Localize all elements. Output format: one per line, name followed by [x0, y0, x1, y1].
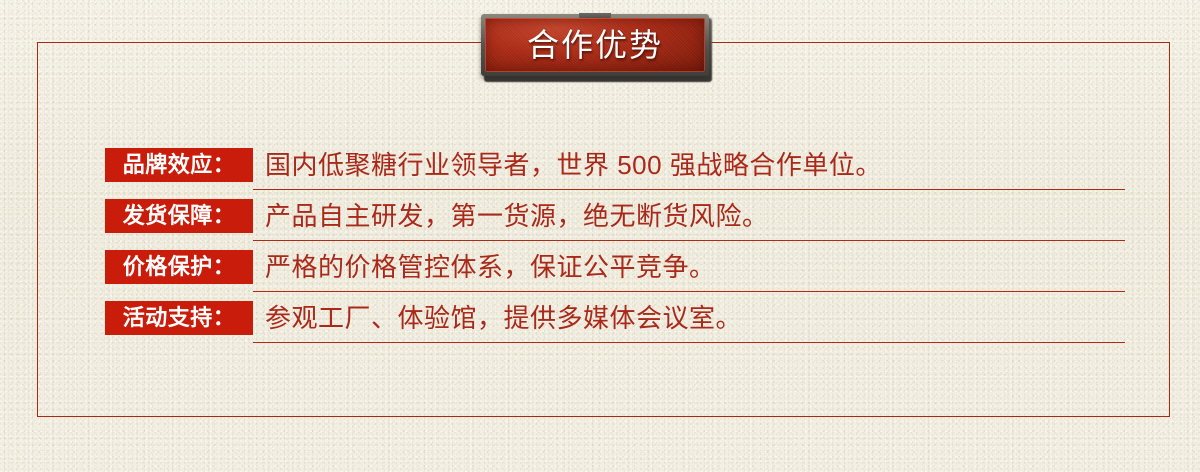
- list-item: 活动支持： 参观工厂、体验馆，提供多媒体会议室。: [105, 301, 1125, 352]
- feature-text-activity-support: 参观工厂、体验馆，提供多媒体会议室。: [265, 301, 742, 335]
- promo-banner-page: 合作优势 品牌效应： 国内低聚糖行业领导者，世界 500 强战略合作单位。 发货…: [0, 0, 1200, 472]
- plaque-inner-panel: 合作优势: [485, 18, 705, 72]
- feature-text-shipping-guarantee: 产品自主研发，第一货源，绝无断货风险。: [265, 199, 769, 233]
- feature-label-price-protection: 价格保护：: [105, 250, 253, 284]
- feature-label-activity-support: 活动支持：: [105, 301, 253, 335]
- feature-label-brand-effect: 品牌效应：: [105, 148, 253, 182]
- row-divider: [253, 342, 1125, 343]
- feature-list: 品牌效应： 国内低聚糖行业领导者，世界 500 强战略合作单位。 发货保障： 产…: [105, 148, 1125, 352]
- section-title-plaque: 合作优势: [481, 14, 715, 84]
- list-item: 发货保障： 产品自主研发，第一货源，绝无断货风险。: [105, 199, 1125, 250]
- feature-text-price-protection: 严格的价格管控体系，保证公平竞争。: [265, 250, 716, 284]
- row-divider: [253, 240, 1125, 241]
- list-item: 价格保护： 严格的价格管控体系，保证公平竞争。: [105, 250, 1125, 301]
- plaque-outer-bezel: 合作优势: [481, 14, 709, 76]
- row-divider: [253, 189, 1125, 190]
- feature-text-brand-effect: 国内低聚糖行业领导者，世界 500 强战略合作单位。: [265, 148, 882, 182]
- row-divider: [253, 291, 1125, 292]
- feature-label-shipping-guarantee: 发货保障：: [105, 199, 253, 233]
- list-item: 品牌效应： 国内低聚糖行业领导者，世界 500 强战略合作单位。: [105, 148, 1125, 199]
- page-title: 合作优势: [527, 29, 663, 61]
